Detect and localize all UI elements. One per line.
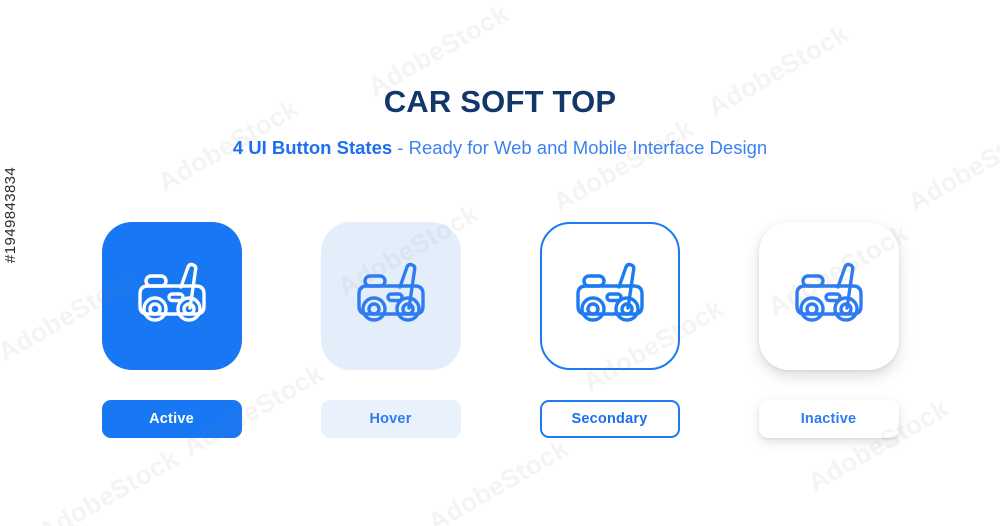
- state-label-hover[interactable]: Hover: [321, 400, 461, 438]
- icon-tile-secondary[interactable]: [540, 222, 680, 370]
- car-soft-top-icon: [566, 252, 654, 340]
- state-label-secondary[interactable]: Secondary: [540, 400, 680, 438]
- watermark-text: AdobeStock: [423, 433, 574, 526]
- state-column-secondary: Secondary: [537, 222, 682, 438]
- state-column-active: Active: [99, 222, 244, 438]
- icon-tile-inactive[interactable]: [759, 222, 899, 370]
- car-soft-top-icon: [347, 252, 435, 340]
- state-label-inactive[interactable]: Inactive: [759, 400, 899, 438]
- watermark-text: AdobeStock: [33, 443, 184, 526]
- icon-tile-active[interactable]: [102, 222, 242, 370]
- car-soft-top-icon: [128, 252, 216, 340]
- car-soft-top-icon: [785, 252, 873, 340]
- button-states-row: Active Hover: [0, 222, 1000, 438]
- page-subtitle: 4 UI Button States - Ready for Web and M…: [0, 119, 1000, 159]
- state-column-inactive: Inactive: [756, 222, 901, 438]
- subtitle-rest: - Ready for Web and Mobile Interface Des…: [392, 137, 767, 158]
- state-column-hover: Hover: [318, 222, 463, 438]
- page-title: CAR SOFT TOP: [0, 0, 1000, 119]
- icon-tile-hover[interactable]: [321, 222, 461, 370]
- page-header: CAR SOFT TOP 4 UI Button States - Ready …: [0, 0, 1000, 159]
- subtitle-lead: 4 UI Button States: [233, 137, 392, 158]
- state-label-active[interactable]: Active: [102, 400, 242, 438]
